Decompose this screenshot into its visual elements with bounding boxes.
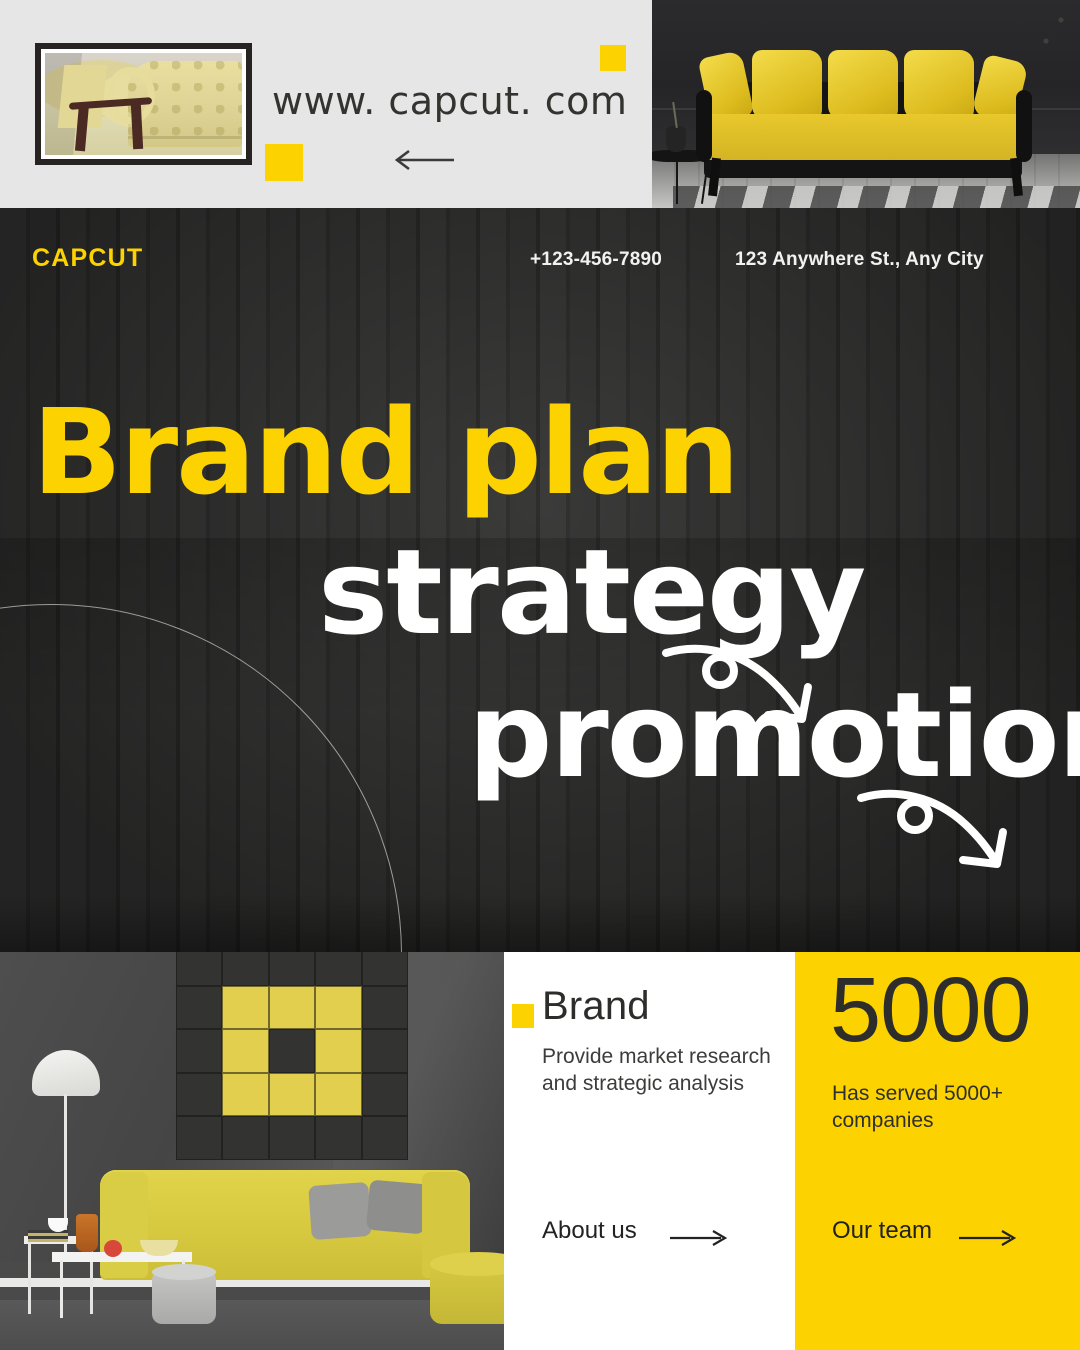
photo-pillow-3 bbox=[828, 50, 898, 120]
hero-section: CAPCUT +123-456-7890 123 Anywhere St., A… bbox=[0, 208, 1080, 952]
photo-plant bbox=[1026, 6, 1076, 76]
art-tile bbox=[176, 1073, 222, 1117]
art-tile bbox=[315, 1029, 361, 1073]
room-gray-cushion-1 bbox=[308, 1182, 372, 1240]
yellow-accent-square-3 bbox=[512, 1004, 534, 1028]
art-tile bbox=[222, 1116, 268, 1160]
room-sofa-arm-left bbox=[100, 1172, 148, 1278]
photo-sofa-arm-right bbox=[1016, 90, 1032, 162]
chair-leg-shape-2 bbox=[131, 104, 143, 149]
art-tile bbox=[222, 952, 268, 986]
our-team-link[interactable]: Our team bbox=[832, 1217, 932, 1245]
art-tile bbox=[362, 1116, 408, 1160]
yellow-accent-square-1 bbox=[265, 144, 303, 181]
art-tile bbox=[176, 986, 222, 1030]
framed-armchair-photo bbox=[35, 43, 252, 165]
room-rug bbox=[0, 1300, 504, 1350]
poster-canvas: www. capcut. com bbox=[0, 0, 1080, 1350]
art-tile bbox=[269, 1116, 315, 1160]
art-tile bbox=[269, 952, 315, 986]
photo-sofa-arm-left bbox=[696, 90, 712, 162]
art-tile bbox=[362, 1029, 408, 1073]
bottom-section: Brand Provide market research and strate… bbox=[0, 952, 1080, 1350]
art-tile bbox=[315, 1073, 361, 1117]
art-tile bbox=[315, 1116, 361, 1160]
room-coffee-table bbox=[52, 1252, 192, 1262]
stat-caption: Has served 5000+ companies bbox=[832, 1080, 1047, 1135]
photo-table-leg bbox=[676, 158, 678, 204]
room-apple bbox=[104, 1240, 122, 1257]
hero-sofa-photo bbox=[652, 0, 1080, 208]
living-room-photo bbox=[0, 952, 504, 1350]
photo-sofa-seat bbox=[700, 114, 1026, 160]
stat-panel: 5000 Has served 5000+ companies Our team bbox=[795, 952, 1080, 1350]
room-gray-pouf-top bbox=[152, 1264, 216, 1280]
curved-arrow-icon-2 bbox=[855, 768, 1045, 878]
art-tile bbox=[315, 952, 361, 986]
brand-logo[interactable]: CAPCUT bbox=[32, 244, 143, 273]
wall-art-tiles bbox=[176, 952, 408, 1160]
armchair-image bbox=[45, 53, 242, 155]
stat-number: 5000 bbox=[830, 964, 1031, 1056]
photo-vase bbox=[666, 126, 686, 152]
brand-info-title: Brand bbox=[542, 984, 650, 1029]
contact-address[interactable]: 123 Anywhere St., Any City bbox=[735, 249, 984, 271]
headline-line-1: Brand plan bbox=[32, 393, 738, 511]
brand-info-panel: Brand Provide market research and strate… bbox=[504, 952, 795, 1350]
brand-info-body: Provide market research and strategic an… bbox=[542, 1044, 782, 1098]
art-tile bbox=[269, 1073, 315, 1117]
art-tile bbox=[362, 952, 408, 986]
room-pitcher bbox=[76, 1214, 98, 1252]
art-tile bbox=[269, 1029, 315, 1073]
art-tile bbox=[362, 1073, 408, 1117]
yellow-accent-square-2 bbox=[600, 45, 626, 71]
arrow-left-icon[interactable] bbox=[392, 148, 456, 172]
about-us-link[interactable]: About us bbox=[542, 1217, 637, 1245]
curved-arrow-icon-1 bbox=[660, 623, 850, 733]
art-tile bbox=[222, 986, 268, 1030]
photo-pillow-2 bbox=[752, 50, 822, 120]
art-tile bbox=[362, 986, 408, 1030]
top-band: www. capcut. com bbox=[0, 0, 1080, 208]
art-tile bbox=[222, 1073, 268, 1117]
art-tile bbox=[222, 1029, 268, 1073]
room-gray-cushion-2 bbox=[366, 1180, 428, 1235]
room-small-table-leg bbox=[28, 1242, 31, 1314]
arrow-right-icon[interactable] bbox=[958, 1229, 1020, 1247]
photo-pillow-4 bbox=[904, 50, 974, 120]
website-url[interactable]: www. capcut. com bbox=[272, 79, 627, 123]
contact-phone[interactable]: +123-456-7890 bbox=[530, 249, 662, 271]
room-coffee-table-leg bbox=[60, 1260, 63, 1318]
sofa-seat-line bbox=[128, 136, 242, 139]
art-tile bbox=[176, 1029, 222, 1073]
art-tile bbox=[315, 986, 361, 1030]
art-tile bbox=[176, 1116, 222, 1160]
arrow-right-icon[interactable] bbox=[669, 1229, 731, 1247]
art-tile bbox=[176, 952, 222, 986]
photo-mat bbox=[41, 49, 246, 159]
room-books bbox=[28, 1230, 68, 1242]
art-tile bbox=[269, 986, 315, 1030]
